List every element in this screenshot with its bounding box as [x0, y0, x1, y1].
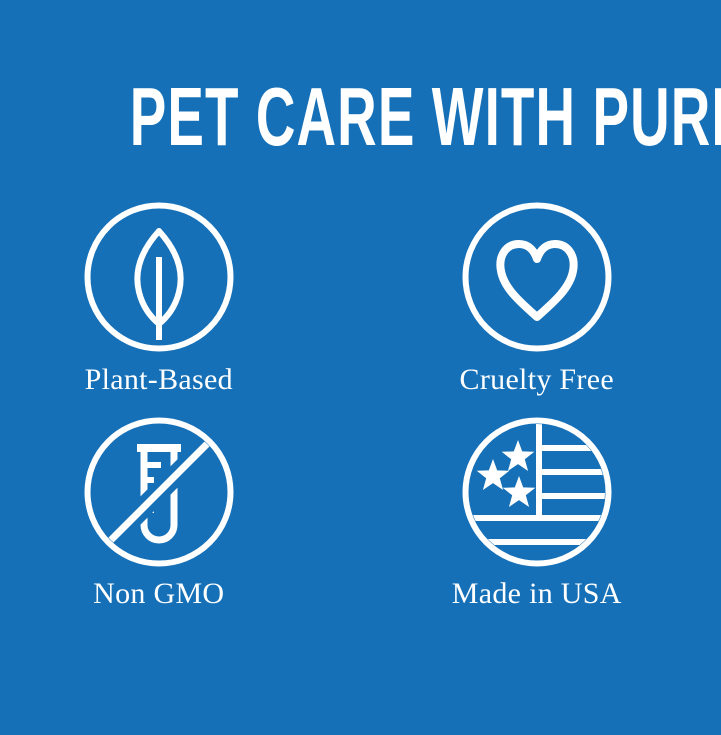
- badge-made-in-usa: Made in USA: [353, 415, 721, 610]
- badge-label: Cruelty Free: [460, 363, 614, 396]
- usa-flag-circle-icon: [460, 415, 614, 569]
- badge-label: Non GMO: [93, 577, 224, 610]
- leaf-in-circle-icon: [82, 200, 236, 354]
- badge-non-gmo: Non GMO: [0, 415, 361, 610]
- heart-in-circle-icon: [460, 200, 614, 354]
- badge-label: Plant-Based: [85, 363, 233, 396]
- badge-label: Made in USA: [452, 577, 622, 610]
- badge-grid: Plant-Based Cruelty Free: [0, 200, 721, 610]
- page-title-label: PET CARE WITH PURPOSE: [130, 70, 721, 163]
- no-test-tube-icon: [82, 415, 236, 569]
- badge-plant-based: Plant-Based: [0, 200, 361, 396]
- page-title-text: PET CARE WITH PURPOSE®: [130, 78, 721, 157]
- pet-care-badges-panel: PET CARE WITH PURPOSE® Plant-Based Cruel…: [0, 0, 721, 735]
- page-title: PET CARE WITH PURPOSE®: [0, 78, 721, 148]
- badge-cruelty-free: Cruelty Free: [353, 200, 721, 396]
